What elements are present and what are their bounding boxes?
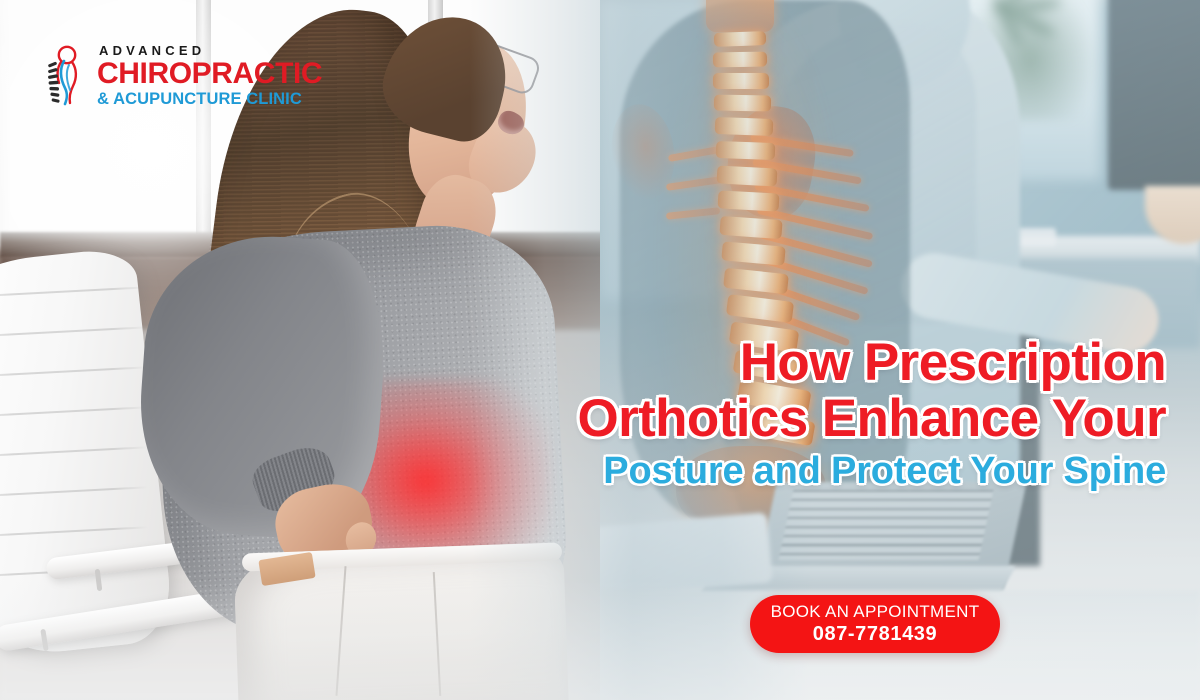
cta-phone-number: 087-7781439	[813, 623, 938, 646]
headline-line-1: How Prescription	[577, 336, 1166, 390]
headline-block: How Prescription Orthotics Enhance Your …	[577, 336, 1166, 491]
vertebra	[714, 95, 771, 112]
book-appointment-button[interactable]: BOOK AN APPOINTMENT 087-7781439	[750, 595, 1000, 653]
laptop-keyboard	[779, 490, 994, 560]
cta-label: BOOK AN APPOINTMENT	[771, 602, 980, 622]
spine-person-icon	[44, 45, 88, 107]
logo-wordmark: ADVANCED CHIROPRACTIC & ACUPUNCTURE CLIN…	[97, 44, 322, 107]
vertebra	[714, 31, 766, 47]
vertebra	[715, 117, 774, 136]
logo-line-chiropractic: CHIROPRACTIC	[97, 60, 322, 89]
headline-line-3: Posture and Protect Your Spine	[577, 452, 1166, 491]
logo-line-acupuncture: & ACUPUNCTURE CLINIC	[97, 91, 322, 108]
vertebra	[713, 73, 769, 89]
cervical-vertebrae-top	[706, 0, 774, 32]
promo-banner: ADVANCED CHIROPRACTIC & ACUPUNCTURE CLIN…	[0, 0, 1200, 700]
headline-line-2: Orthotics Enhance Your	[577, 392, 1166, 446]
monitor	[1108, 0, 1200, 190]
vertebra	[716, 141, 776, 160]
vertebra	[717, 165, 778, 186]
clinic-logo[interactable]: ADVANCED CHIROPRACTIC & ACUPUNCTURE CLIN…	[44, 44, 322, 107]
vertebra	[713, 52, 767, 68]
vertebra	[718, 190, 780, 211]
logo-line-advanced: ADVANCED	[97, 44, 322, 57]
